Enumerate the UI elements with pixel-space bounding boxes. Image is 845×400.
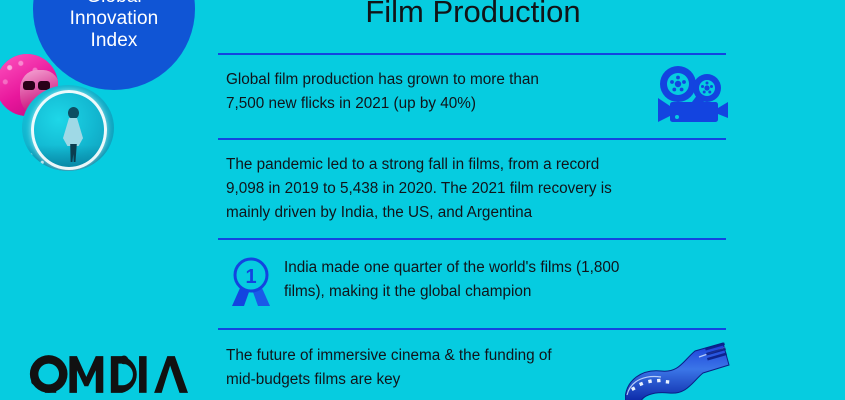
page-title: Film Production bbox=[218, 0, 728, 30]
divider-2 bbox=[218, 138, 726, 140]
slide-canvas: Global Innovation Index Film Production … bbox=[0, 0, 845, 400]
divider-4 bbox=[218, 328, 726, 330]
content-block-india-champion: 1 India made one quarter of the world's … bbox=[226, 250, 726, 315]
omdia-logo bbox=[28, 352, 188, 396]
divider-3 bbox=[218, 238, 726, 240]
content-block-pandemic-fall: The pandemic led to a strong fall in fil… bbox=[226, 153, 726, 225]
brand-circle-label: Global Innovation Index bbox=[33, 0, 195, 52]
medal-rank-label: 1 bbox=[245, 266, 256, 288]
movie-camera-icon bbox=[648, 64, 730, 126]
block-text: The pandemic led to a strong fall in fil… bbox=[226, 153, 726, 225]
divider-1 bbox=[218, 53, 726, 55]
medal-first-place-icon: 1 bbox=[226, 254, 276, 310]
medal-icon-wrapper: 1 bbox=[226, 250, 284, 315]
block-text: India made one quarter of the world's fi… bbox=[284, 250, 726, 304]
photo-bubble-teal bbox=[22, 85, 114, 171]
film-strip-icon bbox=[625, 339, 745, 400]
bubble-ring bbox=[31, 90, 107, 170]
